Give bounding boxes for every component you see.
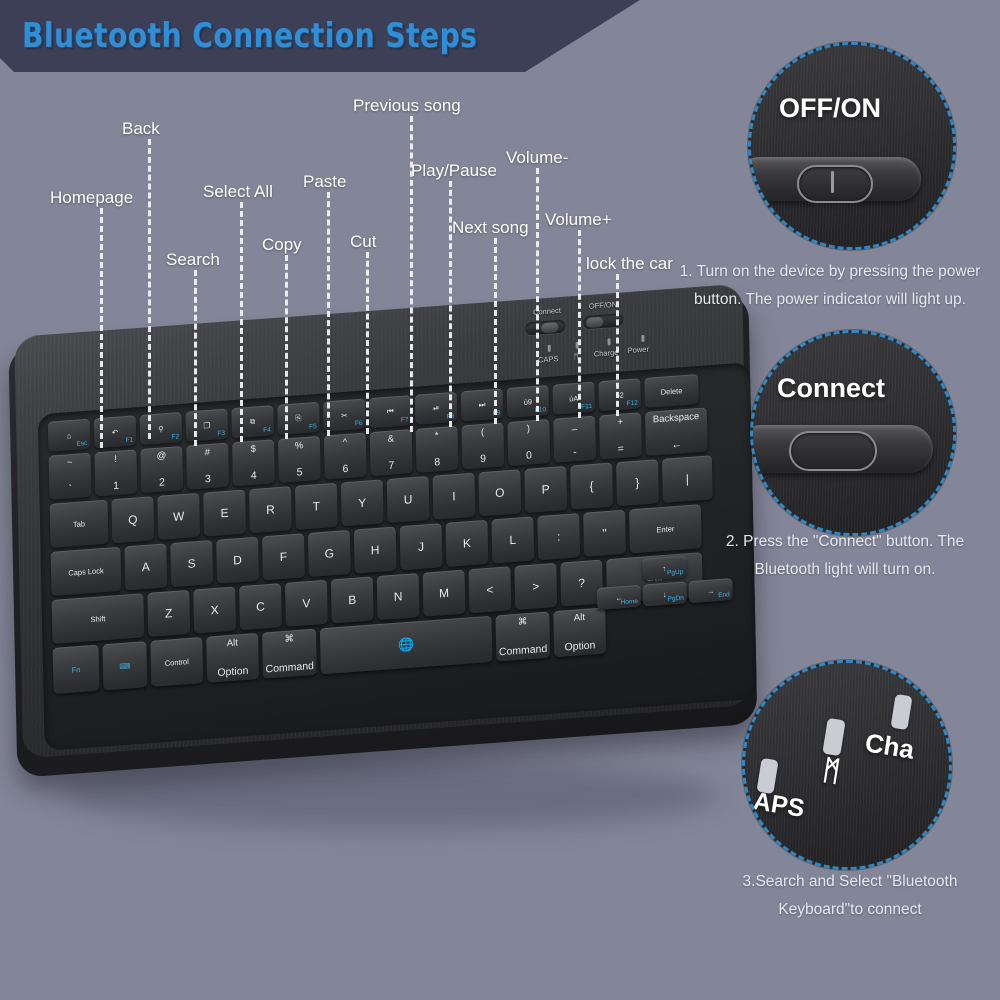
key-fn-legend: F12 bbox=[627, 399, 638, 407]
key-top-legend: % bbox=[278, 439, 320, 453]
key-bottom-legend: 2 bbox=[141, 475, 183, 490]
key-fn-legend: PgUp bbox=[667, 569, 683, 577]
right-command-key[interactable]: ⌘Command bbox=[495, 612, 550, 662]
key-legend: Option bbox=[554, 638, 606, 654]
inset-caption-off-on: OFF/ON bbox=[779, 93, 881, 124]
key-fn-legend: F4 bbox=[263, 426, 271, 434]
key-legend: ⏮ bbox=[387, 406, 394, 417]
left-command-key[interactable]: ⌘Command bbox=[262, 629, 317, 679]
keyboard-top-shell: Connect OFF/ON CAPS ᛗ Charge Power ⌂Esc↶… bbox=[14, 284, 751, 759]
key-legend: K bbox=[463, 537, 471, 550]
key-fn-legend: F11 bbox=[581, 403, 592, 411]
key-top-legend: ⌘ bbox=[262, 632, 316, 647]
delete-key[interactable]: Delete bbox=[644, 374, 698, 408]
key-bottom-legend: 9 bbox=[462, 451, 504, 466]
search-key[interactable]: ⚲F2 bbox=[140, 412, 183, 445]
volume-down-key[interactable]: ὐ9F10 bbox=[507, 385, 550, 418]
key-legend: Q bbox=[128, 513, 138, 526]
key-fn-legend: F7 bbox=[401, 416, 409, 424]
key-legend: Enter bbox=[656, 524, 674, 534]
page-title: Bluetooth Connection Steps bbox=[22, 16, 477, 56]
key-bottom-legend: 8 bbox=[416, 455, 458, 470]
key-l[interactable]: L bbox=[491, 516, 534, 563]
inset-plate-texture bbox=[748, 42, 956, 250]
key-legend: ⏭ bbox=[479, 400, 486, 411]
tab-key[interactable]: Tab bbox=[50, 500, 109, 548]
key-top-legend: & bbox=[370, 432, 412, 446]
key-top-legend: Backspace bbox=[645, 410, 707, 426]
key-legend: X bbox=[210, 604, 218, 617]
charge-indicator-label: Charge bbox=[594, 348, 619, 359]
paste-key[interactable]: ⎘F5 bbox=[277, 402, 320, 435]
key-9[interactable]: (9 bbox=[461, 422, 504, 469]
key-legend: N bbox=[394, 590, 403, 603]
leader-line bbox=[327, 192, 330, 436]
key-bottom-legend: 3 bbox=[187, 472, 229, 487]
key-c[interactable]: C bbox=[239, 583, 282, 630]
key-legend: L bbox=[509, 534, 516, 547]
leader-line bbox=[285, 255, 288, 439]
home-key[interactable]: ⌂Esc bbox=[48, 419, 91, 452]
key-x[interactable]: X bbox=[193, 586, 236, 633]
callout-label-play-pause: Play/Pause bbox=[411, 161, 497, 181]
leader-line bbox=[578, 230, 581, 418]
key-s[interactable]: S bbox=[170, 540, 213, 587]
globe-icon: 🌐 bbox=[398, 636, 414, 653]
minus-key[interactable]: _- bbox=[553, 416, 596, 463]
key-legend: < bbox=[486, 584, 493, 597]
key-legend: Control bbox=[165, 657, 189, 668]
key-top-legend: ( bbox=[462, 425, 504, 439]
step-3-line-2: Keyboard"to connect bbox=[700, 896, 1000, 924]
key-legend: Caps Lock bbox=[68, 566, 104, 578]
caps-indicator-led bbox=[548, 345, 551, 352]
key-legend: I bbox=[452, 490, 456, 502]
key-legend: ⧉ bbox=[250, 417, 256, 427]
key-legend: G bbox=[325, 547, 335, 560]
key-legend: W bbox=[173, 510, 185, 523]
key-legend: J bbox=[418, 541, 424, 553]
keyboard-toggle-key[interactable]: ⌨ bbox=[102, 641, 147, 690]
step-2-line-1: 2. Press the "Connect" button. The bbox=[690, 528, 1000, 556]
key-top-legend: # bbox=[186, 446, 228, 460]
leader-line bbox=[616, 274, 619, 416]
leader-line bbox=[494, 238, 497, 424]
power-slider-notch bbox=[831, 171, 834, 193]
key-b[interactable]: B bbox=[331, 576, 374, 623]
leader-line bbox=[366, 252, 369, 434]
key-legend: { bbox=[589, 480, 593, 492]
key-top-legend: ~ bbox=[49, 456, 91, 470]
step-2-line-2: Bluetooth light will turn on. bbox=[690, 556, 1000, 584]
power-switch-inset: OFF/ON bbox=[748, 42, 956, 250]
key-o[interactable]: O bbox=[478, 469, 521, 516]
key-legend: M bbox=[439, 587, 449, 600]
key-d[interactable]: D bbox=[216, 537, 259, 584]
key-legend: Z bbox=[165, 607, 173, 620]
key-bottom-legend: 5 bbox=[279, 465, 321, 480]
key-legend: ↓ bbox=[663, 589, 667, 598]
key-top-legend: _ bbox=[553, 419, 595, 433]
key-legend: ✂ bbox=[341, 410, 347, 419]
spacebar[interactable]: 🌐 bbox=[320, 616, 493, 675]
key-q[interactable]: Q bbox=[111, 496, 154, 543]
key-fn-legend: End bbox=[718, 591, 730, 599]
key-legend: ὐA bbox=[569, 393, 578, 403]
right-bracket-key[interactable]: } bbox=[616, 459, 659, 506]
key-i[interactable]: I bbox=[433, 473, 476, 520]
key-fn-legend: F6 bbox=[355, 420, 363, 428]
lock-key[interactable]: ὑ2F12 bbox=[598, 378, 641, 411]
backslash-key[interactable]: | bbox=[662, 455, 713, 503]
key-4[interactable]: $4 bbox=[232, 439, 275, 486]
key-legend: | bbox=[686, 473, 689, 485]
key-legend: U bbox=[404, 493, 413, 506]
callout-label-paste: Paste bbox=[303, 172, 346, 192]
callout-label-homepage: Homepage bbox=[50, 188, 133, 208]
infographic-canvas: Bluetooth Connection Steps Connect OFF/O… bbox=[0, 0, 1000, 1000]
key-3[interactable]: #3 bbox=[186, 443, 229, 490]
key-legend: V bbox=[302, 597, 310, 610]
key-j[interactable]: J bbox=[400, 523, 443, 570]
leader-line bbox=[194, 270, 197, 446]
arrow-left-key[interactable]: ←Home bbox=[597, 585, 641, 610]
fn-key[interactable]: Fn bbox=[53, 645, 100, 694]
step-2-text: 2. Press the "Connect" button. The Bluet… bbox=[690, 528, 1000, 584]
key-legend: Command bbox=[496, 643, 550, 659]
caps-indicator-label: CAPS bbox=[538, 354, 559, 365]
key-fn-legend: F2 bbox=[171, 433, 179, 441]
arrow-down-key[interactable]: ↓PgDn bbox=[643, 581, 687, 606]
power-indicator-label: Power bbox=[628, 345, 649, 356]
key-7[interactable]: &7 bbox=[370, 429, 413, 476]
step-3-text: 3.Search and Select "Bluetooth Keyboard"… bbox=[700, 868, 1000, 924]
previous-song-key[interactable]: ⏮F7 bbox=[369, 395, 412, 428]
step-3-line-1: 3.Search and Select "Bluetooth bbox=[700, 868, 1000, 896]
key-legend: Fn bbox=[72, 665, 81, 675]
period-key[interactable]: > bbox=[514, 563, 557, 610]
key-fn-legend: F5 bbox=[309, 423, 317, 431]
leader-line bbox=[240, 202, 243, 442]
key-bottom-legend: - bbox=[554, 445, 596, 460]
keyboard-key-bezel: ⌂Esc↶F1⚲F2❐F3⧉F4⎘F5✂F6⏮F7⏯F8⏭F9ὐ9F10ὐAF1… bbox=[38, 362, 757, 751]
key-fn-legend: PgDn bbox=[668, 595, 684, 603]
inset-caption-connect: Connect bbox=[777, 373, 885, 404]
key-u[interactable]: U bbox=[387, 476, 430, 523]
key-legend: ↑ bbox=[662, 563, 666, 572]
callout-label-search: Search bbox=[166, 250, 220, 270]
key-legend: ὐ9 bbox=[524, 397, 532, 407]
backspace-key[interactable]: Backspace← bbox=[645, 407, 708, 456]
key-bottom-legend: 7 bbox=[370, 458, 412, 473]
callout-label-back: Back bbox=[122, 119, 160, 139]
right-option-key[interactable]: AltOption bbox=[553, 607, 606, 657]
connect-button-inset: Connect bbox=[750, 330, 956, 536]
key-legend: ⚲ bbox=[158, 424, 164, 433]
key-n[interactable]: N bbox=[377, 573, 420, 620]
copy-key[interactable]: ⧉F4 bbox=[231, 405, 274, 438]
key-8[interactable]: *8 bbox=[416, 426, 459, 473]
key-fn-legend: Esc bbox=[76, 440, 87, 448]
callout-label-previous-song: Previous song bbox=[353, 96, 461, 116]
step-1-line-1: 1. Turn on the device by pressing the po… bbox=[660, 258, 1000, 286]
leader-line bbox=[148, 139, 151, 439]
key-top-legend: $ bbox=[232, 442, 274, 456]
key-z[interactable]: Z bbox=[147, 590, 190, 637]
key-legend: R bbox=[266, 503, 275, 516]
arrow-up-key[interactable]: ↑PgUp bbox=[642, 555, 686, 580]
key-0[interactable]: )0 bbox=[507, 419, 550, 466]
step-1-line-2: button. The power indicator will light u… bbox=[660, 286, 1000, 314]
power-slider-knob[interactable] bbox=[797, 165, 873, 203]
key-legend: ↶ bbox=[112, 427, 118, 436]
power-switch-label: OFF/ON bbox=[589, 300, 617, 311]
key-top-legend: Alt bbox=[206, 636, 258, 651]
key-h[interactable]: H bbox=[354, 527, 397, 574]
key-e[interactable]: E bbox=[203, 489, 246, 536]
key-legend: O bbox=[495, 486, 505, 499]
caps-lock-key[interactable]: Caps Lock bbox=[51, 547, 122, 596]
semicolon-key[interactable]: : bbox=[537, 513, 580, 560]
key-legend: ⏯ bbox=[433, 403, 439, 413]
indicator-lights-inset: APS ᛗ Cha bbox=[742, 660, 952, 870]
key-legend: C bbox=[256, 600, 265, 613]
keyboard-illustration: Connect OFF/ON CAPS ᛗ Charge Power ⌂Esc↶… bbox=[0, 330, 790, 830]
key-top-legend: + bbox=[599, 415, 641, 429]
key-5[interactable]: %5 bbox=[278, 436, 321, 483]
key-legend: : bbox=[557, 531, 561, 543]
key-2[interactable]: @2 bbox=[140, 446, 183, 493]
key-legend: Y bbox=[358, 497, 366, 510]
key-bottom-legend: ` bbox=[49, 482, 91, 497]
volume-up-key[interactable]: ὐAF11 bbox=[553, 382, 596, 415]
key-m[interactable]: M bbox=[423, 570, 466, 617]
key-f[interactable]: F bbox=[262, 533, 305, 580]
key-k[interactable]: K bbox=[446, 520, 489, 567]
key-legend: E bbox=[220, 507, 228, 520]
key-bottom-legend: ← bbox=[646, 436, 708, 453]
callout-label-cut: Cut bbox=[350, 232, 376, 252]
leader-line bbox=[536, 168, 539, 421]
key-fn-legend: Home bbox=[621, 598, 638, 606]
key-legend: D bbox=[233, 554, 242, 567]
key-top-legend: ! bbox=[95, 452, 137, 466]
key-legend: " bbox=[602, 527, 607, 539]
connect-switch[interactable] bbox=[525, 320, 565, 336]
charge-indicator-led bbox=[607, 338, 610, 345]
key-bottom-legend: 1 bbox=[95, 478, 137, 493]
key-top-legend: ^ bbox=[324, 435, 366, 449]
key-legend: Tab bbox=[73, 519, 85, 529]
key-top-legend: @ bbox=[140, 449, 182, 463]
key-top-legend: ⌘ bbox=[495, 615, 549, 630]
key-legend: Delete bbox=[661, 386, 683, 397]
key-legend: ❐ bbox=[203, 420, 210, 430]
left-shift-key[interactable]: Shift bbox=[52, 593, 145, 644]
option-key[interactable]: AltOption bbox=[206, 633, 259, 683]
key-y[interactable]: Y bbox=[341, 479, 384, 526]
quote-key[interactable]: " bbox=[583, 510, 626, 557]
key-legend: ⎘ bbox=[295, 413, 301, 423]
key-legend: > bbox=[532, 580, 539, 593]
tilde-key[interactable]: ~` bbox=[49, 453, 92, 500]
comma-key[interactable]: < bbox=[468, 566, 511, 613]
key-top-legend: ) bbox=[507, 422, 549, 436]
key-w[interactable]: W bbox=[157, 493, 200, 540]
key-legend: Shift bbox=[90, 614, 105, 624]
key-t[interactable]: T bbox=[295, 483, 338, 530]
key-legend: → bbox=[707, 586, 715, 596]
callout-label-select-all: Select All bbox=[203, 182, 273, 202]
key-6[interactable]: ^6 bbox=[324, 432, 367, 479]
callout-label-volume: Volume- bbox=[506, 148, 568, 168]
key-bottom-legend: 6 bbox=[324, 462, 366, 477]
key-fn-legend: F3 bbox=[217, 430, 225, 438]
key-legend: ? bbox=[578, 577, 585, 590]
key-matrix: ⌂Esc↶F1⚲F2❐F3⧉F4⎘F5✂F6⏮F7⏯F8⏭F9ὐ9F10ὐAF1… bbox=[38, 362, 750, 414]
key-bottom-legend: 4 bbox=[233, 468, 275, 483]
key-legend: ⌂ bbox=[67, 431, 72, 440]
step-1-text: 1. Turn on the device by pressing the po… bbox=[660, 258, 1000, 314]
key-legend: A bbox=[142, 561, 150, 574]
key-legend: P bbox=[542, 483, 550, 496]
callout-label-next-song: Next song bbox=[452, 218, 529, 238]
key-legend: F bbox=[280, 551, 288, 564]
leader-line bbox=[100, 208, 103, 448]
key-1[interactable]: !1 bbox=[94, 449, 137, 496]
key-legend: T bbox=[313, 500, 321, 513]
key-legend: Option bbox=[207, 664, 259, 680]
left-bracket-key[interactable]: { bbox=[570, 463, 613, 510]
equals-key[interactable]: += bbox=[599, 412, 642, 459]
key-p[interactable]: P bbox=[524, 466, 567, 513]
key-legend: Command bbox=[263, 660, 317, 676]
key-legend: B bbox=[348, 594, 356, 607]
key-top-legend: * bbox=[416, 429, 458, 443]
select-all-key[interactable]: ❐F3 bbox=[185, 409, 228, 442]
key-g[interactable]: G bbox=[308, 530, 351, 577]
callout-label-volume: Volume+ bbox=[545, 210, 612, 230]
key-fn-legend: F1 bbox=[126, 437, 134, 445]
key-v[interactable]: V bbox=[285, 580, 328, 627]
key-bottom-legend: 0 bbox=[508, 448, 550, 463]
power-indicator-led bbox=[641, 335, 644, 342]
key-a[interactable]: A bbox=[124, 543, 167, 590]
key-legend: H bbox=[371, 544, 380, 557]
connect-button-cap[interactable] bbox=[789, 431, 877, 471]
control-key[interactable]: Control bbox=[150, 637, 203, 687]
key-legend: S bbox=[188, 557, 196, 570]
key-legend: } bbox=[635, 477, 639, 489]
key-legend: ⌨ bbox=[119, 661, 130, 671]
key-bottom-legend: = bbox=[600, 441, 642, 456]
key-top-legend: Alt bbox=[553, 610, 605, 625]
key-r[interactable]: R bbox=[249, 486, 292, 533]
callout-label-copy: Copy bbox=[262, 235, 302, 255]
